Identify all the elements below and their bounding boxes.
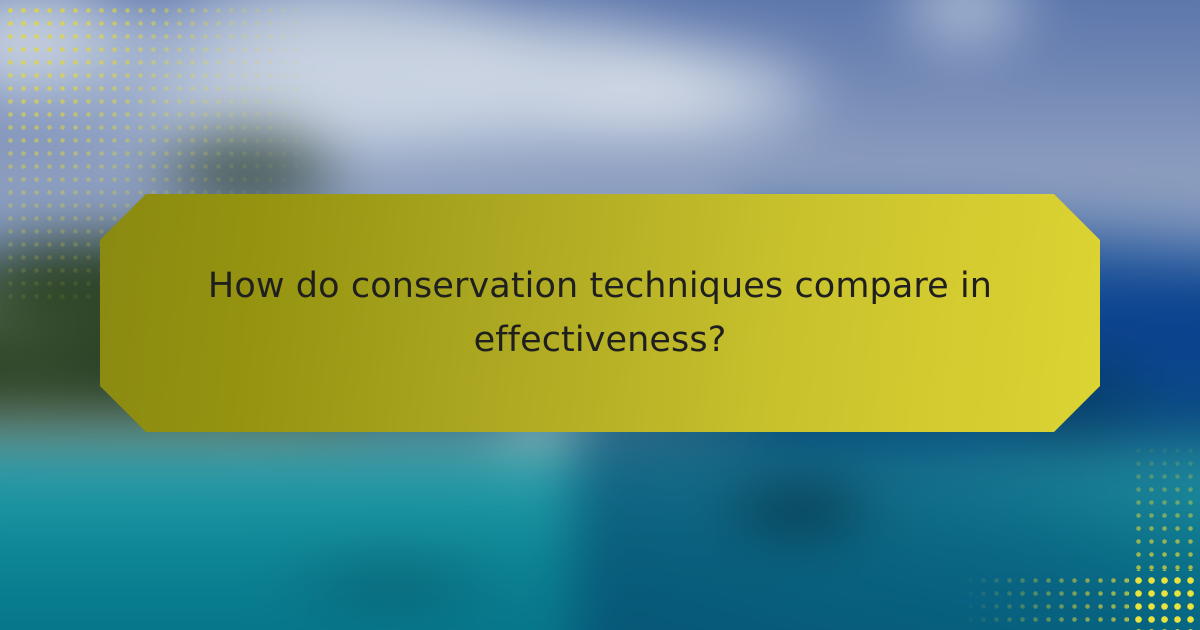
question-card: How do conservation techniques compare i… [100,194,1100,432]
halftone-dots-bottom-right-corner [1128,570,1200,630]
question-card-graphic: How do conservation techniques compare i… [0,0,1200,630]
question-text: How do conservation techniques compare i… [200,259,1000,368]
